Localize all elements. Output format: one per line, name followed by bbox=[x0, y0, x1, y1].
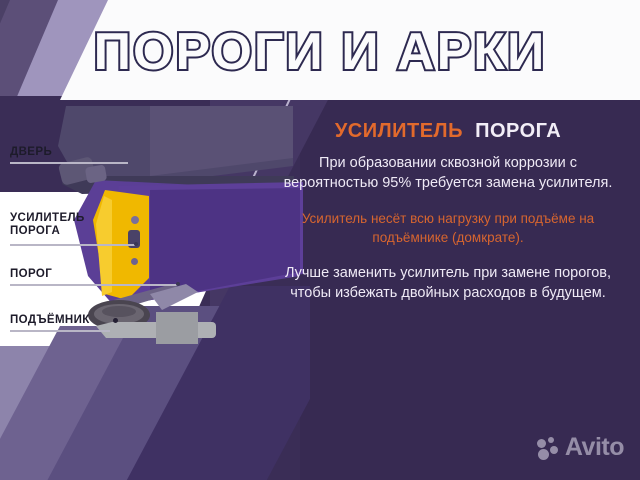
avito-wordmark: Avito bbox=[565, 435, 624, 460]
sill-bolt-upper bbox=[131, 216, 139, 224]
jack-block bbox=[156, 312, 198, 344]
avito-logo-icon bbox=[537, 437, 559, 459]
poster-canvas: ДВЕРЬ УСИЛИТЕЛЬ ПОРОГА ПОРОГ ПОДЪЁМНИК П… bbox=[0, 0, 640, 480]
jack-anchor-dot bbox=[113, 318, 118, 323]
callout-door: ДВЕРЬ bbox=[10, 146, 52, 159]
callout-door-label: ДВЕРЬ bbox=[10, 146, 52, 159]
callout-sill-leader bbox=[10, 284, 178, 286]
content-heading: УСИЛИТЕЛЬ ПОРОГА bbox=[262, 120, 634, 143]
callout-sill-dot bbox=[176, 282, 180, 286]
callout-door-leader bbox=[10, 162, 128, 164]
page-title: ПОРОГИ И АРКИ bbox=[0, 26, 640, 78]
callout-reinforcer-label-line1: УСИЛИТЕЛЬ bbox=[10, 212, 85, 225]
callout-jack: ПОДЪЁМНИК bbox=[10, 314, 90, 327]
callout-jack-leader bbox=[10, 330, 110, 332]
callout-sill: ПОРОГ bbox=[10, 268, 52, 281]
callout-jack-label: ПОДЪЁМНИК bbox=[10, 314, 90, 327]
content-column: УСИЛИТЕЛЬ ПОРОГА При образовании сквозно… bbox=[262, 112, 634, 319]
content-heading-word-2: ПОРОГА bbox=[475, 120, 561, 142]
content-paragraph-3: Лучше заменить усилитель при замене поро… bbox=[262, 263, 634, 303]
callout-reinforcer-label-line2: ПОРОГА bbox=[10, 225, 85, 238]
sill-bolt-lower bbox=[131, 258, 138, 265]
avito-watermark: Avito bbox=[537, 435, 624, 460]
callout-reinforcer-leader bbox=[10, 244, 135, 246]
door-clip-b bbox=[85, 164, 107, 183]
callout-reinforcer: УСИЛИТЕЛЬ ПОРОГА bbox=[10, 212, 85, 238]
callout-sill-label: ПОРОГ bbox=[10, 268, 52, 281]
content-heading-word-1: УСИЛИТЕЛЬ bbox=[335, 120, 463, 142]
content-paragraph-1: При образовании сквозной коррозии с веро… bbox=[262, 153, 634, 193]
jack-pad-center bbox=[102, 306, 136, 317]
content-paragraph-2: Усилитель несёт всю нагрузку при подъёме… bbox=[262, 209, 634, 247]
callout-reinforcer-dot bbox=[134, 242, 138, 246]
